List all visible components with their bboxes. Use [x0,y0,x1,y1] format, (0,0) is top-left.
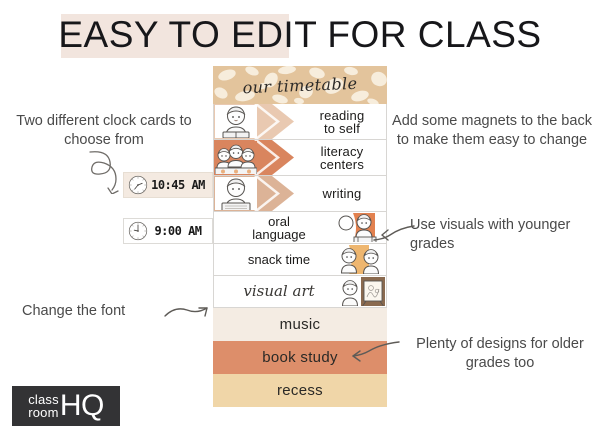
logo-wordmark-stack: class room [28,393,59,419]
row-label-line2: to self [324,121,360,136]
slide-canvas: EASY TO EDIT FOR CLASS [0,0,600,436]
child-talking-icon [335,213,385,242]
timetable-row-label: readingto self [298,104,386,139]
chevron-band [214,104,296,139]
timetable-row-label: writing [298,176,386,211]
timetable-row-label: orallanguage [220,212,338,243]
timetable-row[interactable]: book study [213,341,387,374]
timetable-header-label: our timetable [213,66,387,104]
timetable-row-label: snack time [220,244,338,275]
timetable-row-label: literacycenters [298,140,386,175]
chevron-band [214,140,296,175]
annotation-magnets: Add some magnets to the back to make the… [392,112,592,150]
timetable-row[interactable]: recess [213,374,387,407]
page-title-text: EASY TO EDIT FOR CLASS [0,8,600,62]
kids-snack-icon [335,245,385,274]
page-title: EASY TO EDIT FOR CLASS [0,8,600,62]
clock-card[interactable]: 9:00 AM [123,218,213,244]
girl-reading-icon [215,105,257,138]
clock-card[interactable]: 10:45 AM [123,172,213,198]
child-writing-icon [215,177,257,210]
child-painting-icon [335,277,385,306]
timetable-row[interactable]: snack time [213,244,387,276]
timetable-row[interactable]: orallanguage [213,212,387,244]
annotation-change-font: Change the font [22,302,172,321]
annotation-clock-cards: Two different clock cards to choose from [8,112,200,150]
chevron-band [214,176,296,211]
clock-time-label: 9:00 AM [148,224,212,238]
timetable-row[interactable]: music [213,308,387,341]
kids-group-icon [215,141,257,174]
clock-icon [128,221,148,241]
timetable-card: our timetable [213,66,387,407]
annotation-designs: Plenty of designs for older grades too [405,335,595,373]
timetable-row[interactable]: writing [213,176,387,212]
timetable-row-label: visual art [220,276,338,307]
annotation-visuals: Use visuals with younger grades [410,216,590,254]
timetable-row[interactable]: visual art [213,276,387,308]
logo-hq-mark: HQ [60,392,104,420]
row-label-line2: centers [320,157,364,172]
timetable-row[interactable]: readingto self [213,104,387,140]
timetable-row[interactable]: literacycenters [213,140,387,176]
timetable-row-label: recess [213,374,387,407]
timetable-row-label: music [213,308,387,341]
clock-time-label: 10:45 AM [148,178,212,192]
timetable-header: our timetable [213,66,387,104]
logo-line-2: room [28,406,59,419]
clock-icon [128,175,148,195]
timetable-row-label: book study [213,341,387,374]
logo-classroom-hq[interactable]: class room HQ [12,386,120,426]
row-label-line2: language [252,227,306,242]
